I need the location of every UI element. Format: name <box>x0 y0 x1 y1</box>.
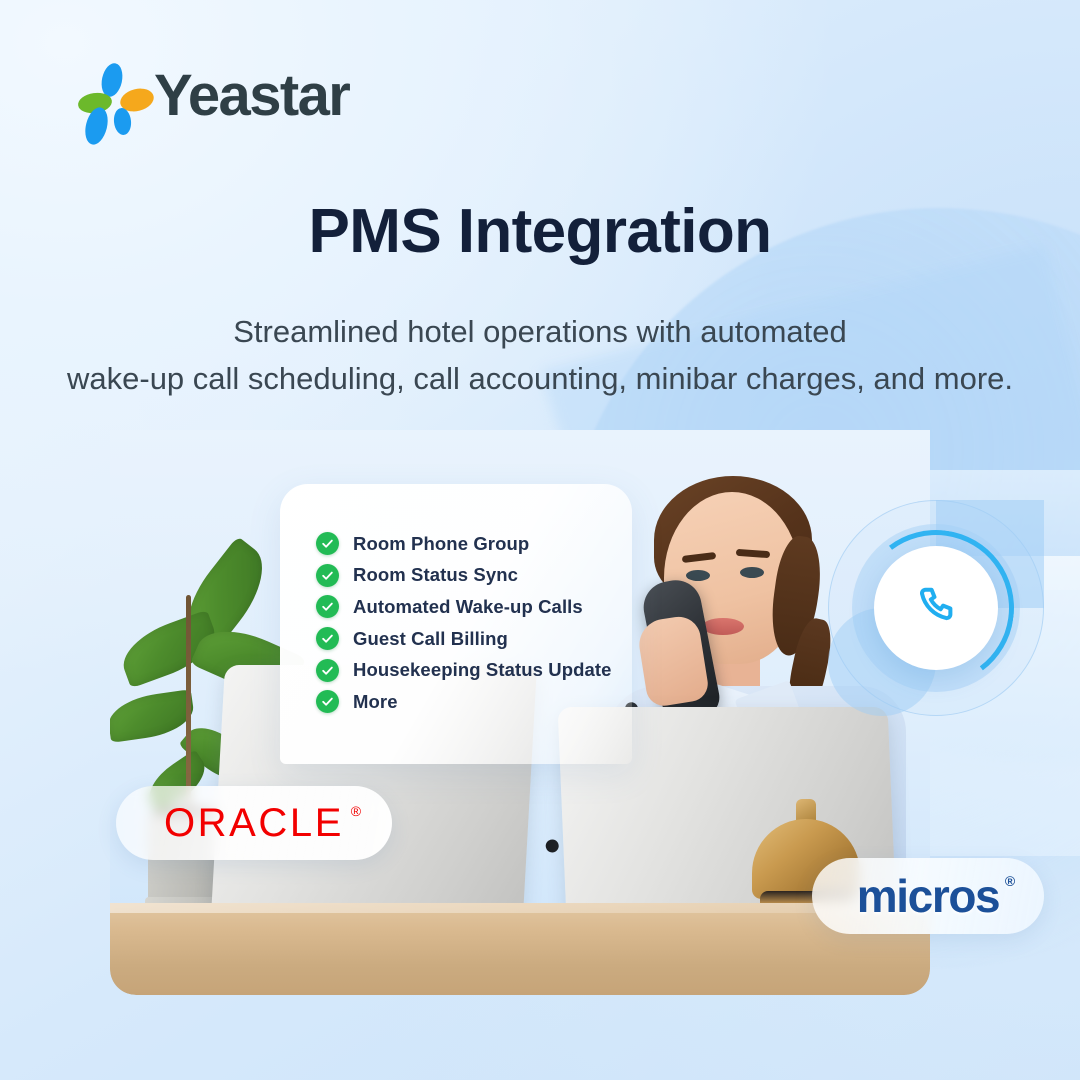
feature-list-item: Housekeeping Status Update <box>316 654 632 686</box>
feature-label: Room Phone Group <box>353 533 529 555</box>
check-circle-icon <box>316 532 339 555</box>
oracle-logo-text: ORACLE <box>164 801 344 845</box>
phone-badge <box>874 546 998 670</box>
feature-list-item: Room Phone Group <box>316 528 632 560</box>
feature-list-card: Room Phone Group Room Status Sync Automa… <box>280 484 632 764</box>
person-eye <box>740 567 764 578</box>
phone-handset-icon <box>913 583 959 634</box>
subtitle-line-2: wake-up call scheduling, call accounting… <box>0 355 1080 402</box>
registered-trademark-symbol: ® <box>351 803 361 819</box>
feature-label: Guest Call Billing <box>353 628 508 650</box>
plant-leaf <box>110 689 197 743</box>
feature-label: Automated Wake-up Calls <box>353 596 583 618</box>
brand-logo: Yeastar <box>78 62 349 129</box>
micros-logo-text: micros <box>857 870 999 922</box>
feature-label: Housekeeping Status Update <box>353 659 612 681</box>
check-circle-icon <box>316 659 339 682</box>
yeastar-flower-logo-icon <box>78 63 140 129</box>
person-eye <box>686 570 710 581</box>
check-circle-icon <box>316 627 339 650</box>
subtitle-line-1: Streamlined hotel operations with automa… <box>0 308 1080 355</box>
wooden-desk <box>110 903 930 995</box>
oracle-wordmark: ORACLE ® <box>164 801 344 846</box>
partner-logo-micros: micros ® <box>812 858 1044 934</box>
feature-list-item: Room Status Sync <box>316 560 632 592</box>
page-title: PMS Integration <box>0 196 1080 267</box>
page-subtitle: Streamlined hotel operations with automa… <box>0 308 1080 402</box>
check-circle-icon <box>316 595 339 618</box>
feature-label: More <box>353 691 398 713</box>
feature-list-item: More <box>316 686 632 718</box>
feature-label: Room Status Sync <box>353 564 518 586</box>
check-circle-icon <box>316 564 339 587</box>
check-circle-icon <box>316 690 339 713</box>
registered-trademark-symbol: ® <box>1005 873 1015 889</box>
feature-list-item: Automated Wake-up Calls <box>316 591 632 623</box>
poster-canvas: Yeastar PMS Integration Streamlined hote… <box>0 0 1080 1080</box>
person-lips <box>702 618 744 635</box>
brand-wordmark: Yeastar <box>154 62 349 129</box>
partner-logo-oracle: ORACLE ® <box>116 786 392 860</box>
plant-stem <box>186 595 191 815</box>
micros-wordmark: micros ® <box>857 869 999 923</box>
feature-list-item: Guest Call Billing <box>316 623 632 655</box>
